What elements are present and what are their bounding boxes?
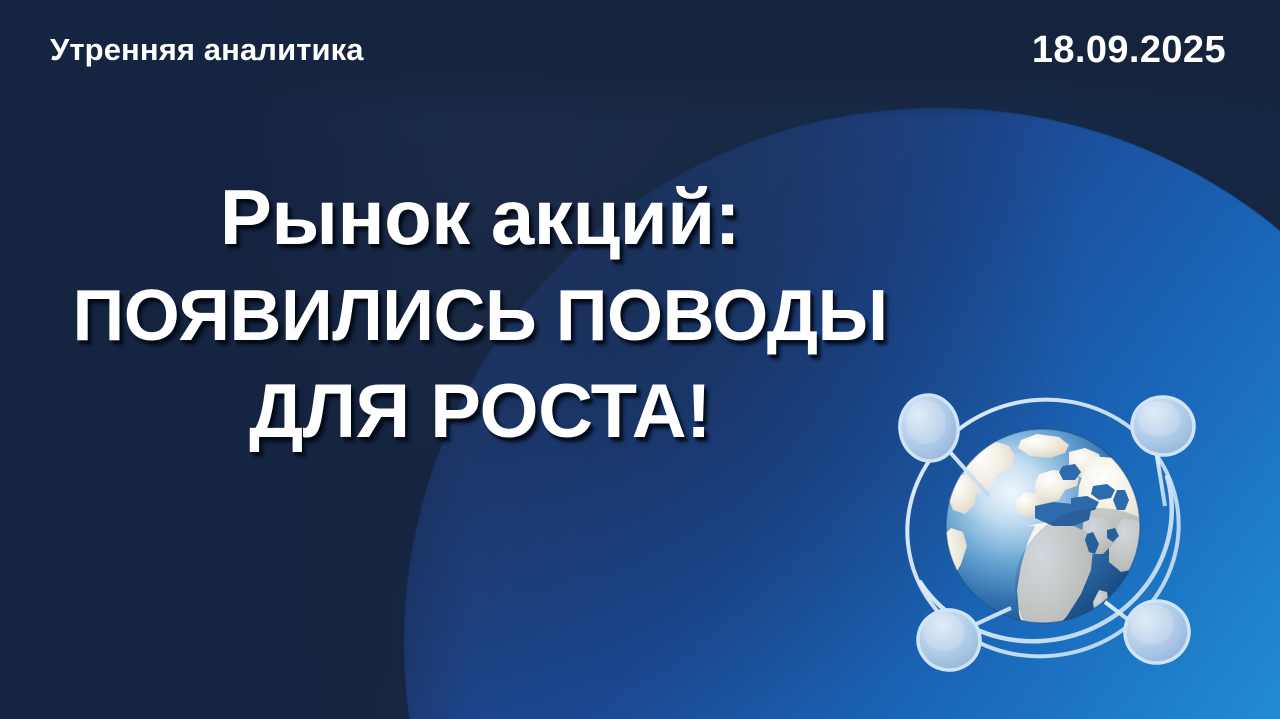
node-bottom-left <box>913 605 984 675</box>
node-bottom-right <box>1122 598 1192 666</box>
broadcast-date: 18.09.2025 <box>1032 29 1226 72</box>
headline-line-1: Рынок акций: <box>12 178 948 258</box>
headline-line-3: для роста! <box>12 373 948 451</box>
headline-block: Рынок акций: появились поводы для роста! <box>0 178 960 451</box>
headline-line-2: появились поводы <box>12 280 948 353</box>
header-bar: Утренняя аналитика 18.09.2025 <box>0 0 1280 100</box>
node-top-right <box>1129 394 1197 458</box>
program-title: Утренняя аналитика <box>50 32 364 68</box>
title-card: Утренняя аналитика 18.09.2025 Рынок акци… <box>0 0 1280 719</box>
